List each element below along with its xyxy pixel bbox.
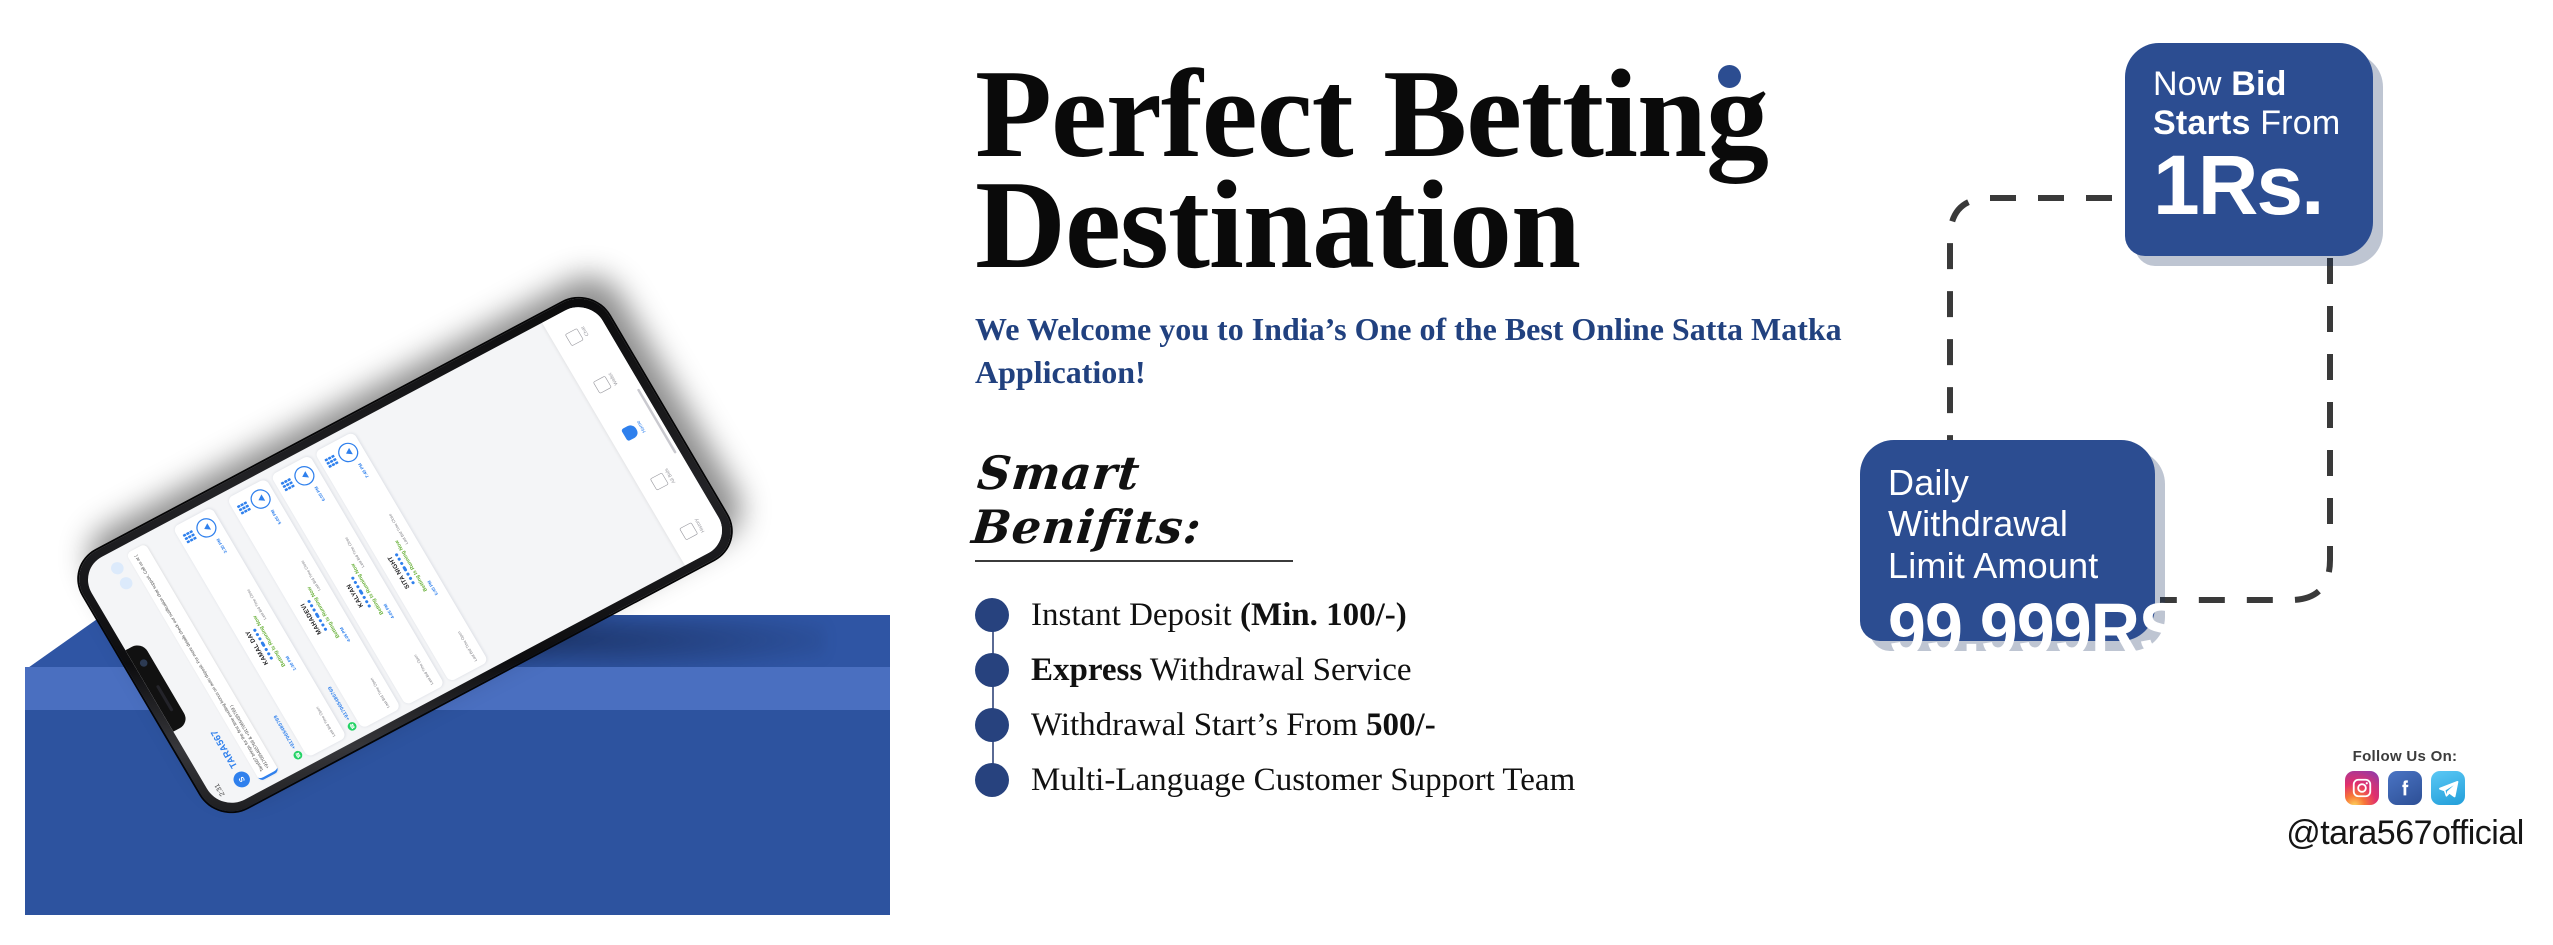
tab-chat[interactable]: Chat [564, 324, 590, 346]
badge-label-part: Daily Withdrawal [1888, 462, 2068, 544]
social-block: Follow Us On: [2255, 748, 2553, 853]
benefits-heading: Smart Benifits: [975, 446, 1305, 562]
phone-mockup: 2:31 25% S TARA567 [110, 55, 870, 675]
bid-badge-value: 1Rs. [2153, 147, 2351, 224]
page-title: Perfect Betting Destination [975, 60, 1975, 282]
list-item: Multi-Language Customer Support Team [975, 753, 1975, 808]
subtitle: We Welcome you to India’s One of the Bes… [975, 308, 1975, 394]
benefit-text: Express Withdrawal Service [1031, 652, 1412, 689]
status-time: 2:31 [213, 782, 226, 797]
tab-all-bids[interactable]: All Bids [649, 467, 677, 491]
facebook-icon[interactable] [2388, 771, 2422, 805]
benefit-bold: 500/- [1366, 707, 1436, 743]
menu-icon[interactable] [109, 560, 126, 577]
benefit-text: Instant Deposit (Min. 100/-) [1031, 597, 1407, 634]
benefits-heading-underline [975, 560, 1293, 562]
chart-grid-icon[interactable] [280, 478, 295, 492]
headline-line-2: Destination [975, 171, 1975, 282]
withdrawal-badge-label: Daily Withdrawal Limit Amount [1888, 462, 2135, 586]
badge-label-emph: Starts [2153, 104, 2260, 142]
withdrawal-badge-value: 99,999RS. [1888, 596, 2115, 664]
bid-start-badge: Now Bid Starts From 1Rs. [2125, 43, 2373, 256]
chart-grid-icon[interactable] [182, 530, 197, 544]
bullet-dot-icon [975, 763, 1009, 797]
promo-banner: 2:31 25% S TARA567 [0, 0, 2553, 945]
follow-us-label: Follow Us On: [2255, 748, 2553, 765]
social-handle: @tara567official [2255, 814, 2553, 853]
play-bid-icon[interactable] [334, 439, 362, 465]
benefit-text: Multi-Language Customer Support Team [1031, 762, 1575, 799]
benefit-plain: Instant Deposit [1031, 597, 1240, 633]
social-icons [2255, 771, 2553, 805]
chart-grid-icon[interactable] [237, 501, 252, 515]
badge-label-part: From [2260, 104, 2340, 142]
list-item: Express Withdrawal Service [975, 643, 1975, 698]
avatar[interactable]: S [231, 769, 253, 790]
benefit-tail: Withdrawal Service [1142, 652, 1411, 688]
whatsapp-icon: ☎ [292, 749, 304, 761]
list-item: Instant Deposit (Min. 100/-) [975, 588, 1975, 643]
whatsapp-icon: ☎ [346, 721, 358, 733]
benefit-plain: Multi-Language Customer Support Team [1031, 762, 1575, 798]
tab-wallet[interactable]: Wallet [593, 372, 619, 394]
play-bid-icon[interactable] [291, 463, 319, 489]
benefit-bold: (Min. 100/-) [1240, 597, 1407, 633]
benefit-bold: Express [1031, 652, 1142, 688]
badge-label-emph: Bid [2231, 65, 2286, 103]
benefits-list: Instant Deposit (Min. 100/-) Express Wit… [975, 588, 1975, 808]
bell-icon[interactable] [118, 575, 135, 592]
blue-dot-accent-icon [1718, 65, 1741, 88]
withdrawal-limit-badge: Daily Withdrawal Limit Amount 99,999RS. [1860, 440, 2155, 641]
product-stage: 2:31 25% S TARA567 [0, 0, 1000, 945]
list-item: Withdrawal Start’s From 500/- [975, 698, 1975, 753]
play-bid-icon[interactable] [193, 515, 221, 541]
bullet-dot-icon [975, 653, 1009, 687]
home-indicator [637, 388, 677, 453]
badge-label-part: Limit Amount [1888, 545, 2099, 586]
badge-label-part: Now [2153, 65, 2231, 103]
play-bid-icon[interactable] [247, 486, 275, 512]
pedestal-front-face [25, 710, 890, 915]
tab-history[interactable]: History [678, 518, 705, 541]
benefit-plain: Withdrawal Start’s From [1031, 707, 1366, 743]
tab-home[interactable]: Home [621, 420, 647, 442]
telegram-icon[interactable] [2431, 771, 2465, 805]
benefit-text: Withdrawal Start’s From 500/- [1031, 707, 1436, 744]
instagram-icon[interactable] [2345, 771, 2379, 805]
offers-block: Now Bid Starts From 1Rs. Daily Withdrawa… [1860, 0, 2553, 945]
bullet-dot-icon [975, 598, 1009, 632]
bid-badge-label: Now Bid Starts From [2153, 65, 2351, 143]
bullet-dot-icon [975, 708, 1009, 742]
app-header-actions [109, 560, 135, 591]
chart-grid-icon[interactable] [324, 454, 339, 468]
benefits-heading-text: Smart Benifits: [969, 446, 1310, 554]
headline-block: Perfect Betting Destination We Welcome y… [975, 60, 1975, 808]
